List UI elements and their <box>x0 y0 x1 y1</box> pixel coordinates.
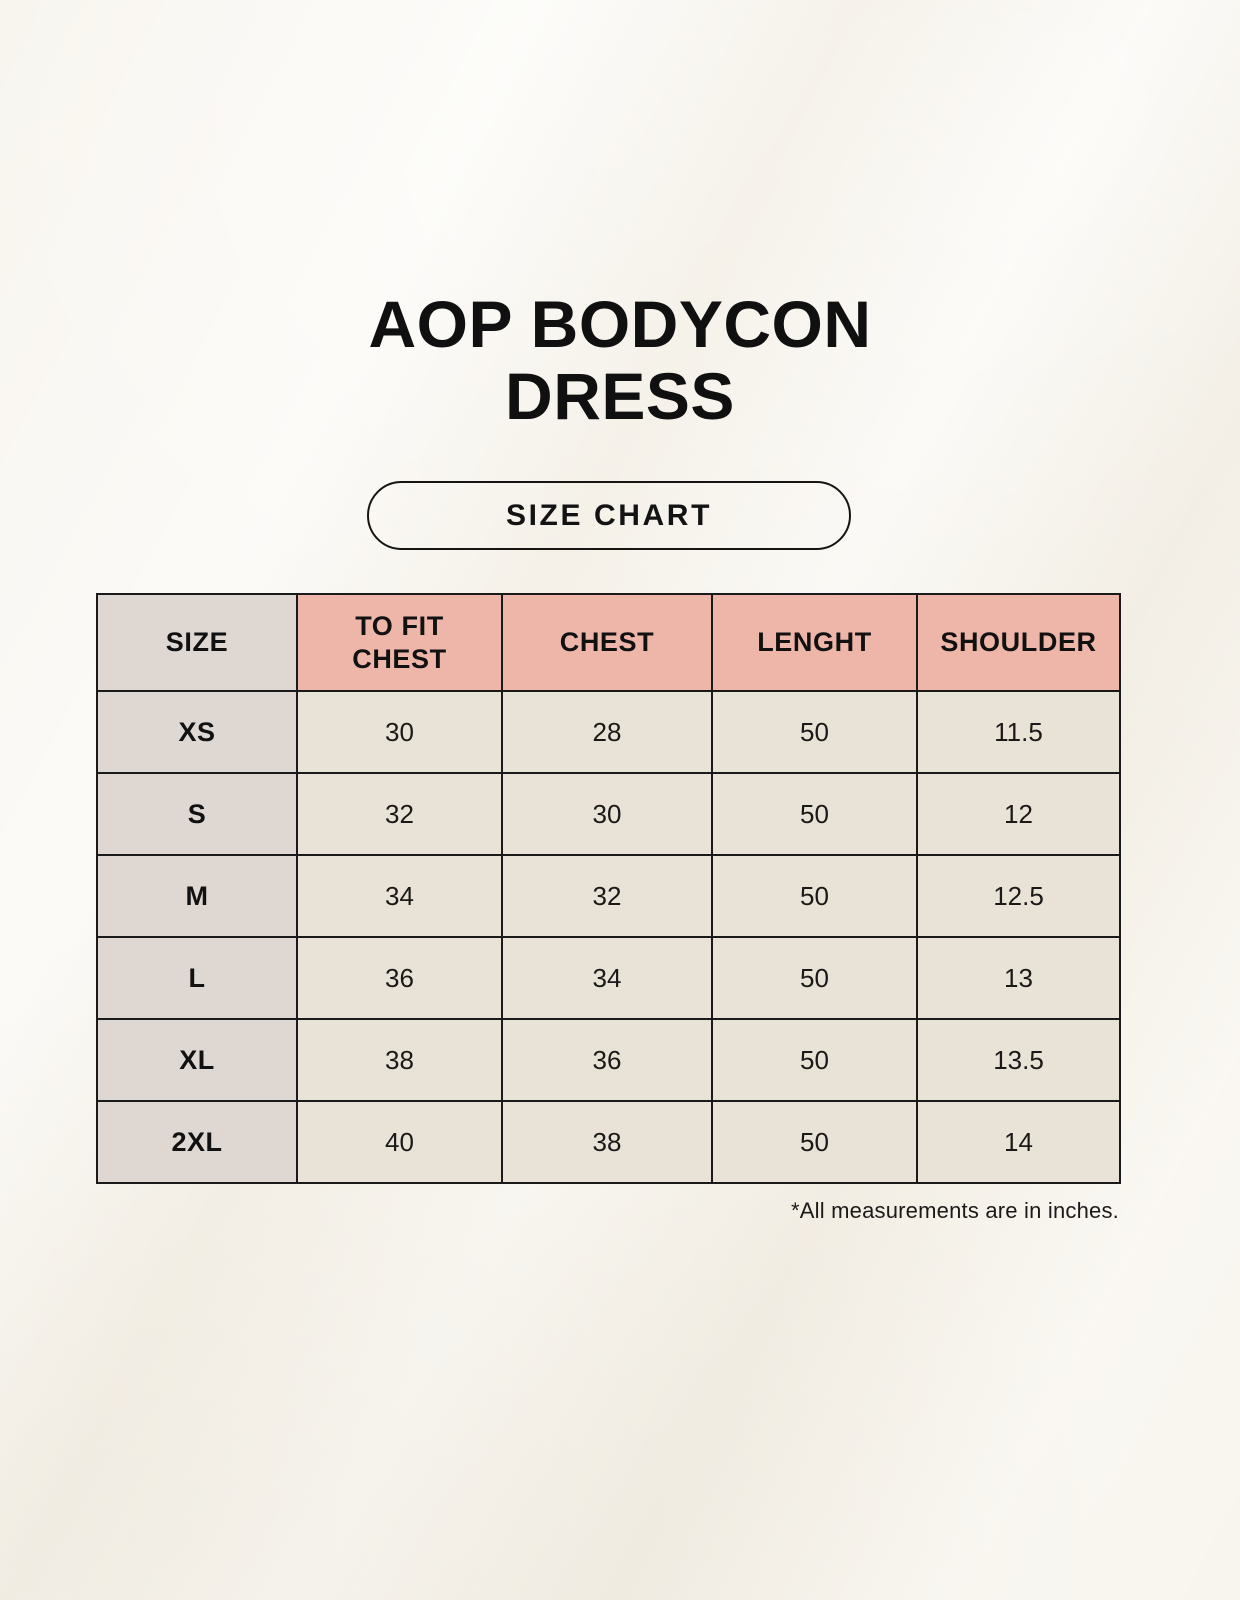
cell-size: 2XL <box>97 1101 297 1183</box>
column-header-chest: CHEST <box>502 594 712 691</box>
column-header-to-fit-chest-line-1: TO FIT <box>298 610 501 643</box>
cell-shoulder: 12 <box>917 773 1120 855</box>
table-row: 2XL 40 38 50 14 <box>97 1101 1120 1183</box>
cell-chest: 30 <box>502 773 712 855</box>
column-header-lenght: LENGHT <box>712 594 917 691</box>
table-header: SIZE TO FIT CHEST CHEST LENGHT SHOULDER <box>97 594 1120 691</box>
cell-shoulder: 13 <box>917 937 1120 1019</box>
table-row: XS 30 28 50 11.5 <box>97 691 1120 773</box>
cell-shoulder: 12.5 <box>917 855 1120 937</box>
size-chart-badge-label: SIZE CHART <box>506 499 712 533</box>
cell-to-fit-chest: 34 <box>297 855 502 937</box>
cell-shoulder: 11.5 <box>917 691 1120 773</box>
cell-chest: 32 <box>502 855 712 937</box>
cell-to-fit-chest: 30 <box>297 691 502 773</box>
column-header-shoulder: SHOULDER <box>917 594 1120 691</box>
table-body: XS 30 28 50 11.5 S 32 30 50 12 M 34 32 5… <box>97 691 1120 1183</box>
cell-chest: 38 <box>502 1101 712 1183</box>
cell-lenght: 50 <box>712 937 917 1019</box>
cell-shoulder: 14 <box>917 1101 1120 1183</box>
cell-size: S <box>97 773 297 855</box>
size-chart-page: AOP BODYCON DRESS SIZE CHART SIZE TO FIT… <box>0 0 1240 1600</box>
cell-to-fit-chest: 38 <box>297 1019 502 1101</box>
cell-chest: 36 <box>502 1019 712 1101</box>
cell-size: XS <box>97 691 297 773</box>
page-title: AOP BODYCON DRESS <box>140 288 1100 432</box>
column-header-to-fit-chest-line-2: CHEST <box>298 643 501 676</box>
table-row: M 34 32 50 12.5 <box>97 855 1120 937</box>
cell-to-fit-chest: 36 <box>297 937 502 1019</box>
measurements-footnote: *All measurements are in inches. <box>791 1198 1119 1224</box>
cell-lenght: 50 <box>712 773 917 855</box>
column-header-size: SIZE <box>97 594 297 691</box>
cell-size: L <box>97 937 297 1019</box>
column-header-to-fit-chest: TO FIT CHEST <box>297 594 502 691</box>
cell-lenght: 50 <box>712 691 917 773</box>
cell-chest: 28 <box>502 691 712 773</box>
table-row: L 36 34 50 13 <box>97 937 1120 1019</box>
page-title-line-1: AOP BODYCON <box>368 287 871 361</box>
page-title-line-2: DRESS <box>140 360 1100 432</box>
table-row: S 32 30 50 12 <box>97 773 1120 855</box>
cell-to-fit-chest: 32 <box>297 773 502 855</box>
table-row: XL 38 36 50 13.5 <box>97 1019 1120 1101</box>
cell-size: XL <box>97 1019 297 1101</box>
cell-lenght: 50 <box>712 1019 917 1101</box>
cell-to-fit-chest: 40 <box>297 1101 502 1183</box>
cell-size: M <box>97 855 297 937</box>
cell-lenght: 50 <box>712 1101 917 1183</box>
cell-chest: 34 <box>502 937 712 1019</box>
size-chart-table: SIZE TO FIT CHEST CHEST LENGHT SHOULDER … <box>96 593 1121 1184</box>
cell-shoulder: 13.5 <box>917 1019 1120 1101</box>
table-header-row: SIZE TO FIT CHEST CHEST LENGHT SHOULDER <box>97 594 1120 691</box>
size-chart-badge: SIZE CHART <box>367 481 851 550</box>
cell-lenght: 50 <box>712 855 917 937</box>
